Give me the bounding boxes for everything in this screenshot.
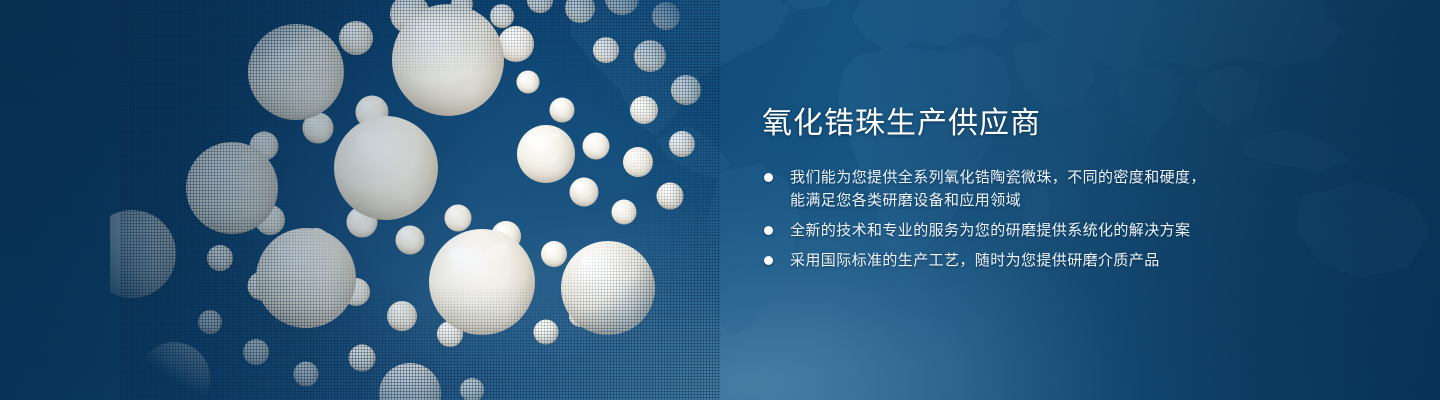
bullet-dot-icon — [764, 256, 773, 265]
feature-text-line-1: 采用国际标准的生产工艺，随时为您提供研磨介质产品 — [790, 252, 1160, 269]
feature-text-line-1: 全新的技术和专业的服务为您的研磨提供系统化的解决方案 — [790, 222, 1190, 239]
promo-banner: 氧化锆珠生产供应商 我们能为您提供全系列氧化锆陶瓷微珠，不同的密度和硬度， 能满… — [0, 0, 1440, 400]
banner-headline: 氧化锆珠生产供应商 — [762, 104, 1302, 144]
feature-list-item: 我们能为您提供全系列氧化锆陶瓷微珠，不同的密度和硬度， 能满足您各类研磨设备和应… — [762, 166, 1302, 212]
feature-text-line-1: 我们能为您提供全系列氧化锆陶瓷微珠，不同的密度和硬度， — [790, 169, 1206, 186]
bullet-dot-icon — [764, 173, 773, 182]
feature-list: 我们能为您提供全系列氧化锆陶瓷微珠，不同的密度和硬度， 能满足您各类研磨设备和应… — [762, 166, 1302, 272]
feature-list-item: 全新的技术和专业的服务为您的研磨提供系统化的解决方案 — [762, 219, 1302, 242]
bullet-dot-icon — [764, 226, 773, 235]
banner-content: 氧化锆珠生产供应商 我们能为您提供全系列氧化锆陶瓷微珠，不同的密度和硬度， 能满… — [762, 104, 1302, 272]
feature-text-line-2: 能满足您各类研磨设备和应用领域 — [790, 189, 1302, 212]
feature-list-item: 采用国际标准的生产工艺，随时为您提供研磨介质产品 — [762, 249, 1302, 272]
